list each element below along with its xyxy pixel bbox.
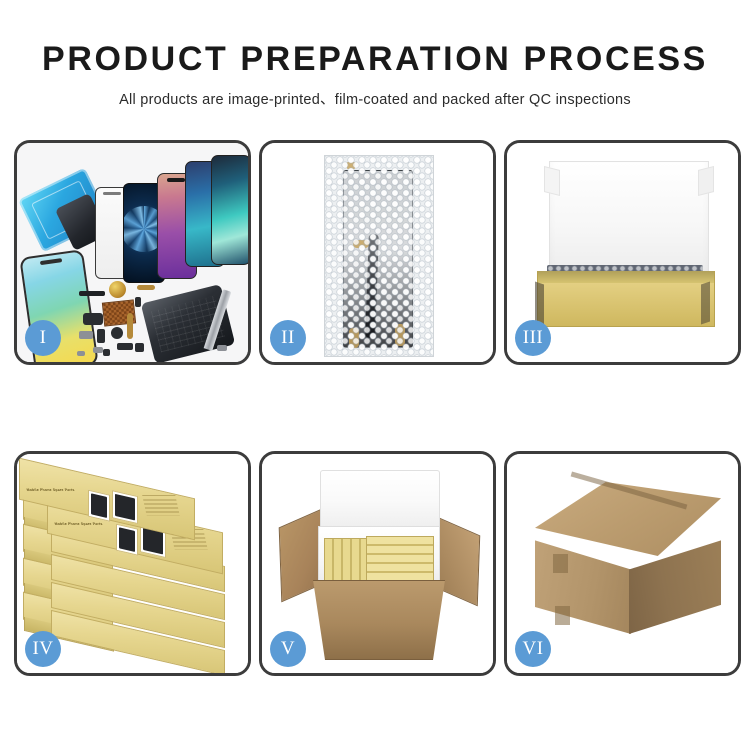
step-panel-3: III <box>504 140 741 365</box>
small-part <box>93 347 103 353</box>
small-part <box>83 313 103 325</box>
box-label-text: Mobile Phone Spare Parts <box>26 488 75 492</box>
small-part <box>79 291 105 296</box>
step-badge-1: I <box>25 320 61 356</box>
bubble-texture <box>325 156 433 356</box>
carton-tab <box>555 606 570 625</box>
yellow-boxes-row <box>366 536 434 582</box>
step-panel-6: VI <box>504 451 741 676</box>
box-window-insert <box>115 494 135 521</box>
foam-box-lid <box>320 470 440 530</box>
steps-grid: I II <box>14 140 736 676</box>
box-window <box>112 490 138 524</box>
step-badge-4: IV <box>25 631 61 667</box>
step-panel-1: I <box>14 140 251 365</box>
small-part <box>117 343 133 350</box>
flex-cable-part <box>137 285 155 290</box>
page-title: PRODUCT PREPARATION PROCESS <box>0 42 750 76</box>
step-badge-5: V <box>270 631 306 667</box>
carton-body <box>304 580 454 660</box>
box-window <box>88 490 110 522</box>
vibration-motor-part <box>109 281 126 298</box>
box-window-insert <box>119 527 135 552</box>
small-part <box>103 349 110 356</box>
flex-cable-part <box>127 313 133 339</box>
box-corner-left <box>535 282 544 325</box>
carton-tab <box>553 554 568 573</box>
small-part <box>135 343 144 352</box>
box-corner-right <box>701 282 710 325</box>
bubble-wrap-pouch <box>324 155 434 357</box>
step-badge-3: III <box>515 320 551 356</box>
small-part <box>135 297 141 307</box>
step-panel-2: II <box>259 140 496 365</box>
page-subtitle: All products are image-printed、film-coat… <box>0 88 750 109</box>
box-spec-lines <box>142 495 180 516</box>
small-part <box>217 345 227 351</box>
speaker-part <box>111 327 123 339</box>
step-panel-5: V <box>259 451 496 676</box>
small-part <box>97 329 105 343</box>
step-badge-6: VI <box>515 631 551 667</box>
header: PRODUCT PREPARATION PROCESS All products… <box>0 0 750 109</box>
white-foam-lid <box>549 161 709 279</box>
small-part <box>77 351 85 356</box>
step-panel-4: Mobile Phone Spare Parts Mobile Phone Sp… <box>14 451 251 676</box>
phone-teal <box>211 155 248 265</box>
kraft-box-base <box>537 271 715 327</box>
small-part <box>79 331 93 339</box>
product-preparation-infographic: PRODUCT PREPARATION PROCESS All products… <box>0 0 750 750</box>
box-label-text: Mobile Phone Spare Parts <box>54 522 103 526</box>
box-window <box>116 524 138 556</box>
box-window-insert <box>91 493 107 518</box>
step-badge-2: II <box>270 320 306 356</box>
